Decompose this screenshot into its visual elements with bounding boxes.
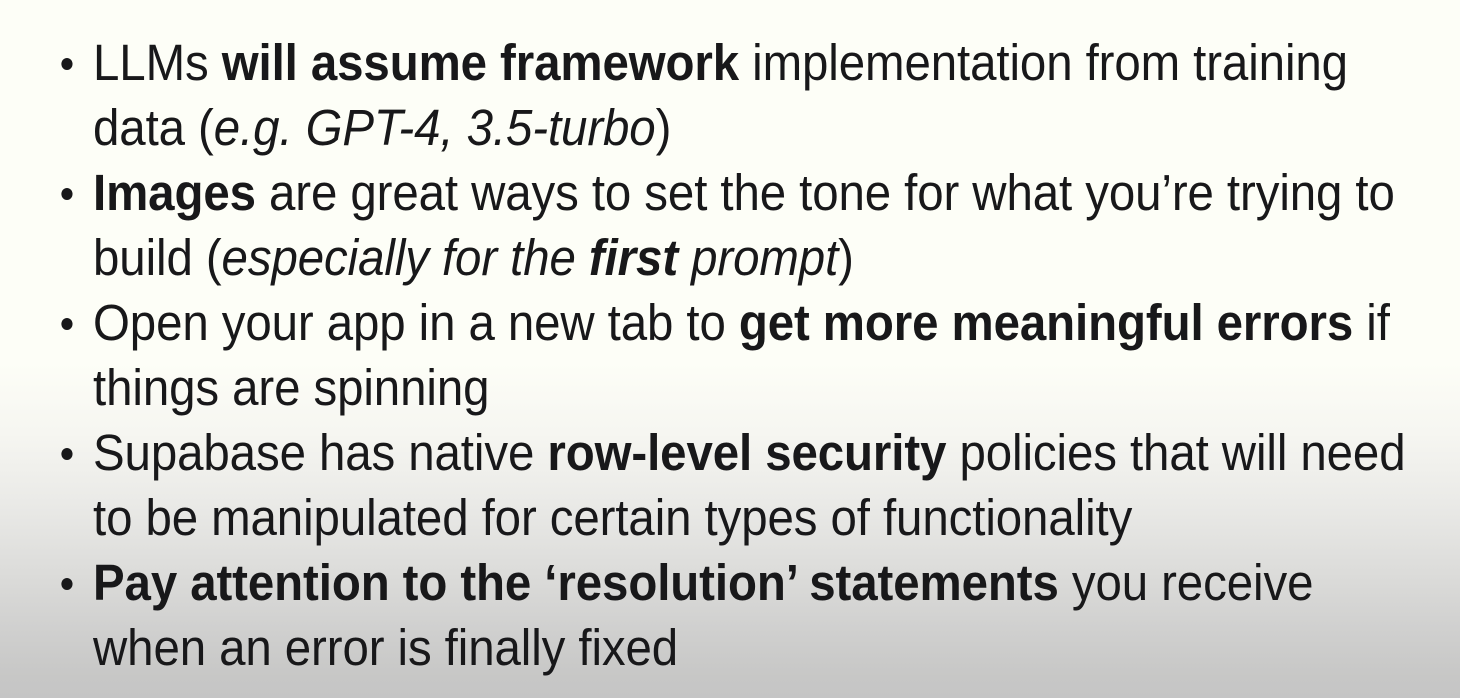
list-item: Supabase has native row-level security p… bbox=[0, 420, 1451, 550]
bullet-text: Open your app in a new tab to get more m… bbox=[93, 294, 1390, 416]
bullet-marker-icon bbox=[61, 578, 72, 590]
bullet-list: LLMs will assume framework implementatio… bbox=[0, 30, 1460, 680]
bullet-text: Images are great ways to set the tone fo… bbox=[93, 164, 1395, 286]
list-item: Pay attention to the ‘resolution’ statem… bbox=[0, 550, 1451, 680]
list-item: LLMs will assume framework implementatio… bbox=[0, 30, 1451, 160]
bullet-marker-icon bbox=[61, 318, 72, 330]
bullet-marker-icon bbox=[61, 58, 72, 70]
bullet-text: Supabase has native row-level security p… bbox=[93, 424, 1406, 546]
bullet-marker-icon bbox=[61, 448, 72, 460]
list-item: Open your app in a new tab to get more m… bbox=[0, 290, 1451, 420]
bullet-text: Pay attention to the ‘resolution’ statem… bbox=[93, 554, 1313, 676]
bullet-marker-icon bbox=[61, 188, 72, 200]
list-item: Images are great ways to set the tone fo… bbox=[0, 160, 1451, 290]
bullet-text: LLMs will assume framework implementatio… bbox=[93, 34, 1348, 156]
slide-canvas: LLMs will assume framework implementatio… bbox=[0, 0, 1460, 698]
